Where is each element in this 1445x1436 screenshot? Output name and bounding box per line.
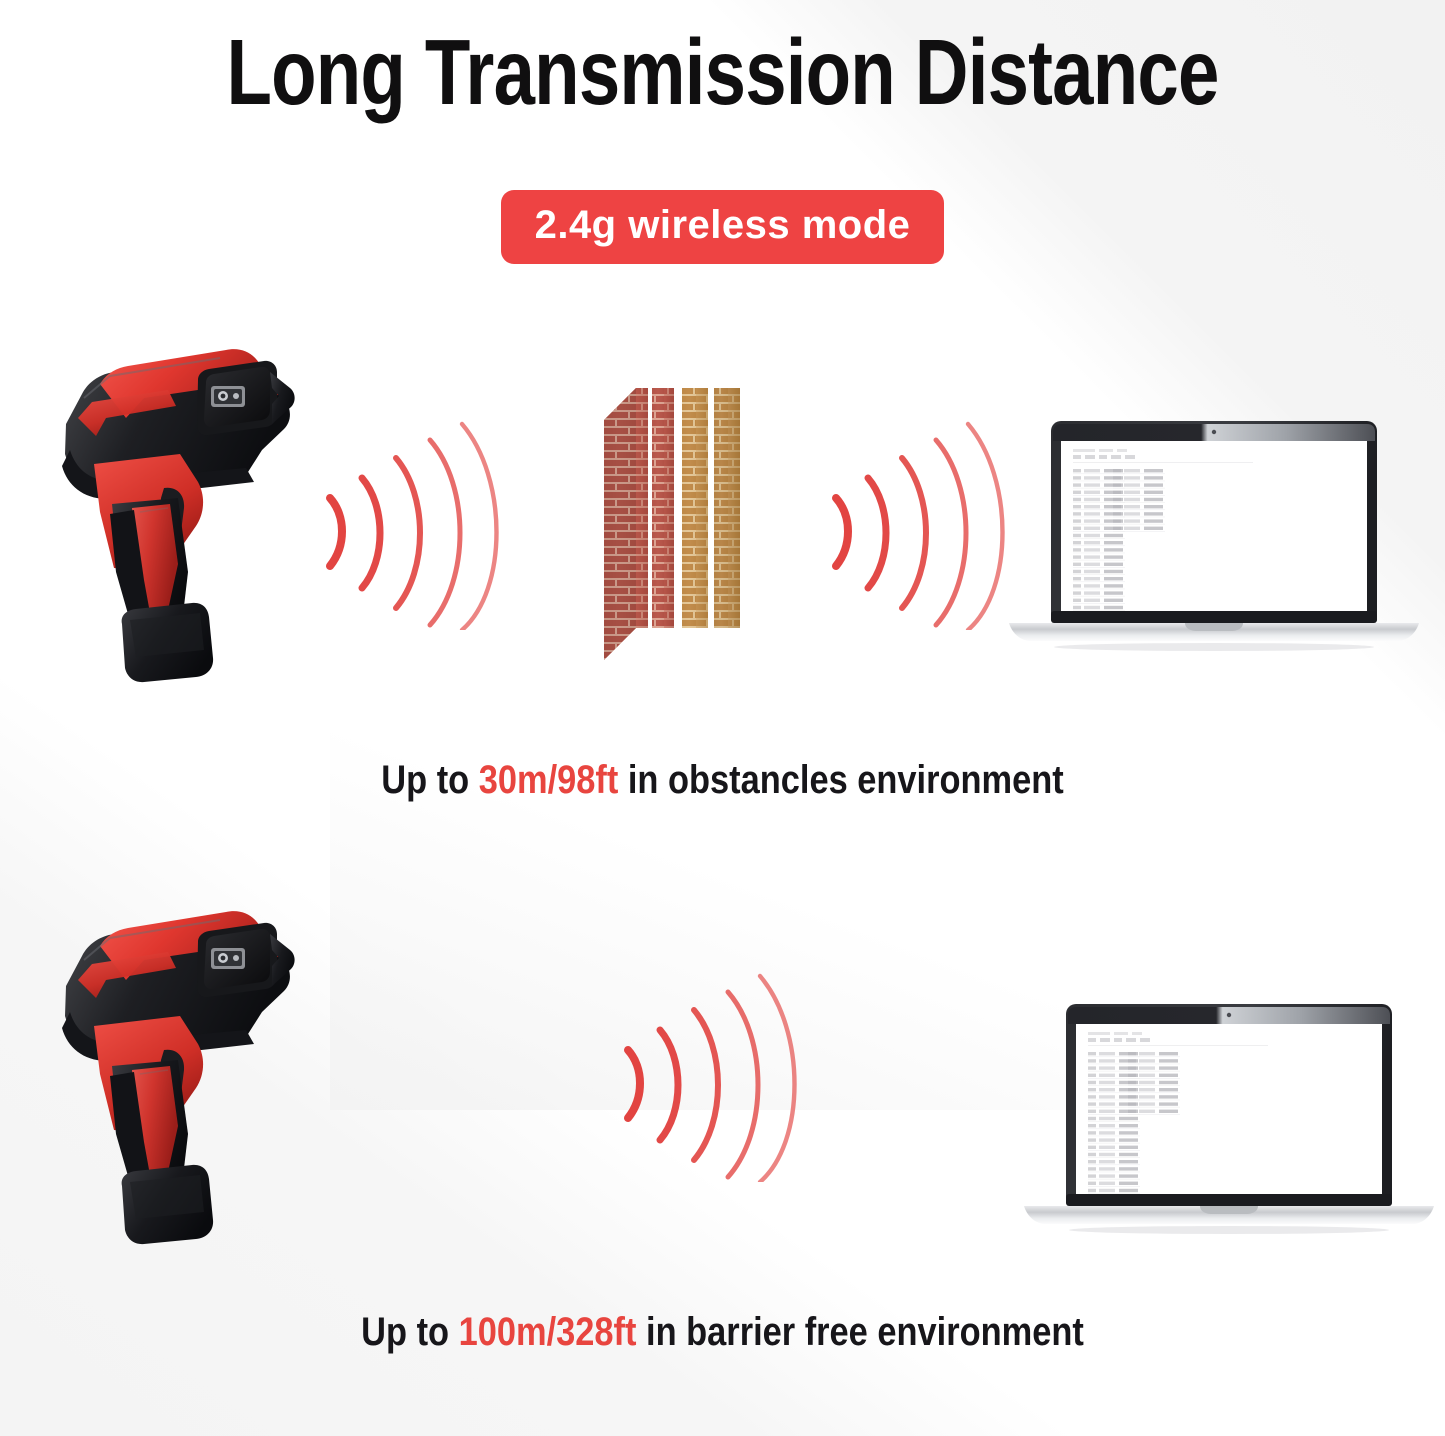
wireless-signal-waves-icon <box>610 972 800 1182</box>
laptop <box>1010 990 1440 1240</box>
badge-container: 2.4g wireless mode <box>0 190 1445 264</box>
brick-wall-icon <box>596 378 766 668</box>
wireless-signal-waves-icon <box>312 420 502 630</box>
row-caption: Up to 100m/328ft in barrier free environ… <box>101 1310 1344 1355</box>
caption-distance-value: 30m/98ft <box>479 758 619 802</box>
obstacle-row: Up to 30m/98ft in obstancles environment <box>0 320 1445 780</box>
laptop <box>995 407 1425 657</box>
barrier-free-row: Up to 100m/328ft in barrier free environ… <box>0 880 1445 1350</box>
row-caption: Up to 30m/98ft in obstancles environment <box>101 758 1344 803</box>
caption-distance-value: 100m/328ft <box>459 1310 637 1354</box>
wireless-mode-badge: 2.4g wireless mode <box>501 190 945 264</box>
caption-prefix: Up to <box>361 1310 458 1354</box>
caption-prefix: Up to <box>381 758 478 802</box>
caption-suffix: in barrier free environment <box>636 1310 1083 1354</box>
barcode-scanner <box>48 332 298 692</box>
infographic-canvas: Long Transmission Distance 2.4g wireless… <box>0 0 1445 1436</box>
page-title: Long Transmission Distance <box>145 24 1301 122</box>
barcode-scanner <box>48 894 298 1254</box>
caption-suffix: in obstancles environment <box>618 758 1063 802</box>
wireless-signal-waves-icon <box>818 420 1008 630</box>
